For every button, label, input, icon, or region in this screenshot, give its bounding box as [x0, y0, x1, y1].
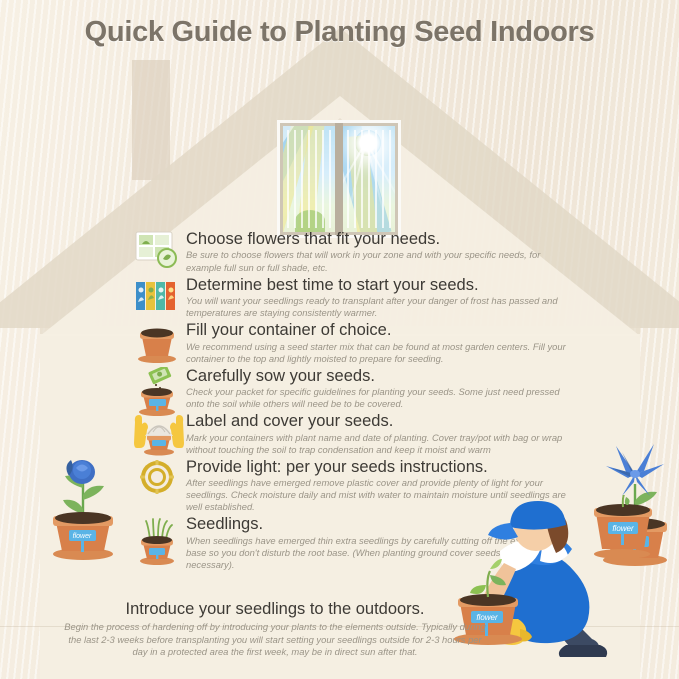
step-heading: Choose flowers that fit your needs. — [186, 230, 570, 248]
step-heading: Fill your container of choice. — [186, 321, 570, 339]
step-body: Check your packet for specific guideline… — [186, 386, 570, 410]
seed-catalog-icon — [134, 230, 182, 278]
sun-light-icon — [134, 458, 182, 506]
left-flower-pot: flower — [40, 418, 126, 568]
step-heading: Carefully sow your seeds. — [186, 367, 570, 385]
window-pane-right — [343, 126, 395, 232]
background-pot-label: flower — [612, 524, 634, 533]
step-heading: Label and cover your seeds. — [186, 412, 570, 430]
step-item: Choose flowers that fit your needs. Be s… — [134, 230, 570, 274]
seed-packets-icon — [134, 276, 182, 324]
step-heading: Provide light: per your seeds instructio… — [186, 458, 570, 476]
seedling-pot-icon — [134, 515, 182, 563]
infographic-canvas: Quick Guide to Planting Seed Indoors — [0, 0, 679, 679]
step-item: Determine best time to start your seeds.… — [134, 276, 570, 320]
step-body: You will want your seedlings ready to tr… — [186, 295, 570, 319]
step-body: Mark your containers with plant name and… — [186, 432, 570, 456]
step-item: Label and cover your seeds. Mark your co… — [134, 412, 570, 456]
step-body: We recommend using a seed starter mix th… — [186, 341, 570, 365]
window-bush — [295, 210, 325, 232]
closing-body: Begin the process of hardening off by in… — [60, 621, 490, 659]
closing-heading: Introduce your seedlings to the outdoors… — [60, 600, 490, 619]
window-pane-left — [283, 126, 335, 232]
window-mullion — [335, 123, 343, 235]
closing-section: Introduce your seedlings to the outdoors… — [60, 600, 490, 659]
step-item: Fill your container of choice. We recomm… — [134, 321, 570, 365]
background-seedling-pot: flower — [594, 495, 652, 559]
page-title: Quick Guide to Planting Seed Indoors — [0, 16, 679, 49]
left-pot-label: flower — [73, 533, 92, 540]
step-body: Be sure to choose flowers that will work… — [186, 249, 570, 273]
filled-pot-icon — [134, 321, 182, 369]
window-illustration — [277, 120, 401, 238]
step-heading: Determine best time to start your seeds. — [186, 276, 570, 294]
blue-rose-illustration: flower — [40, 418, 126, 568]
covered-pot-gloves-icon — [134, 412, 182, 460]
step-item: Carefully sow your seeds. Check your pac… — [134, 367, 570, 411]
sowing-seeds-icon — [134, 367, 182, 415]
